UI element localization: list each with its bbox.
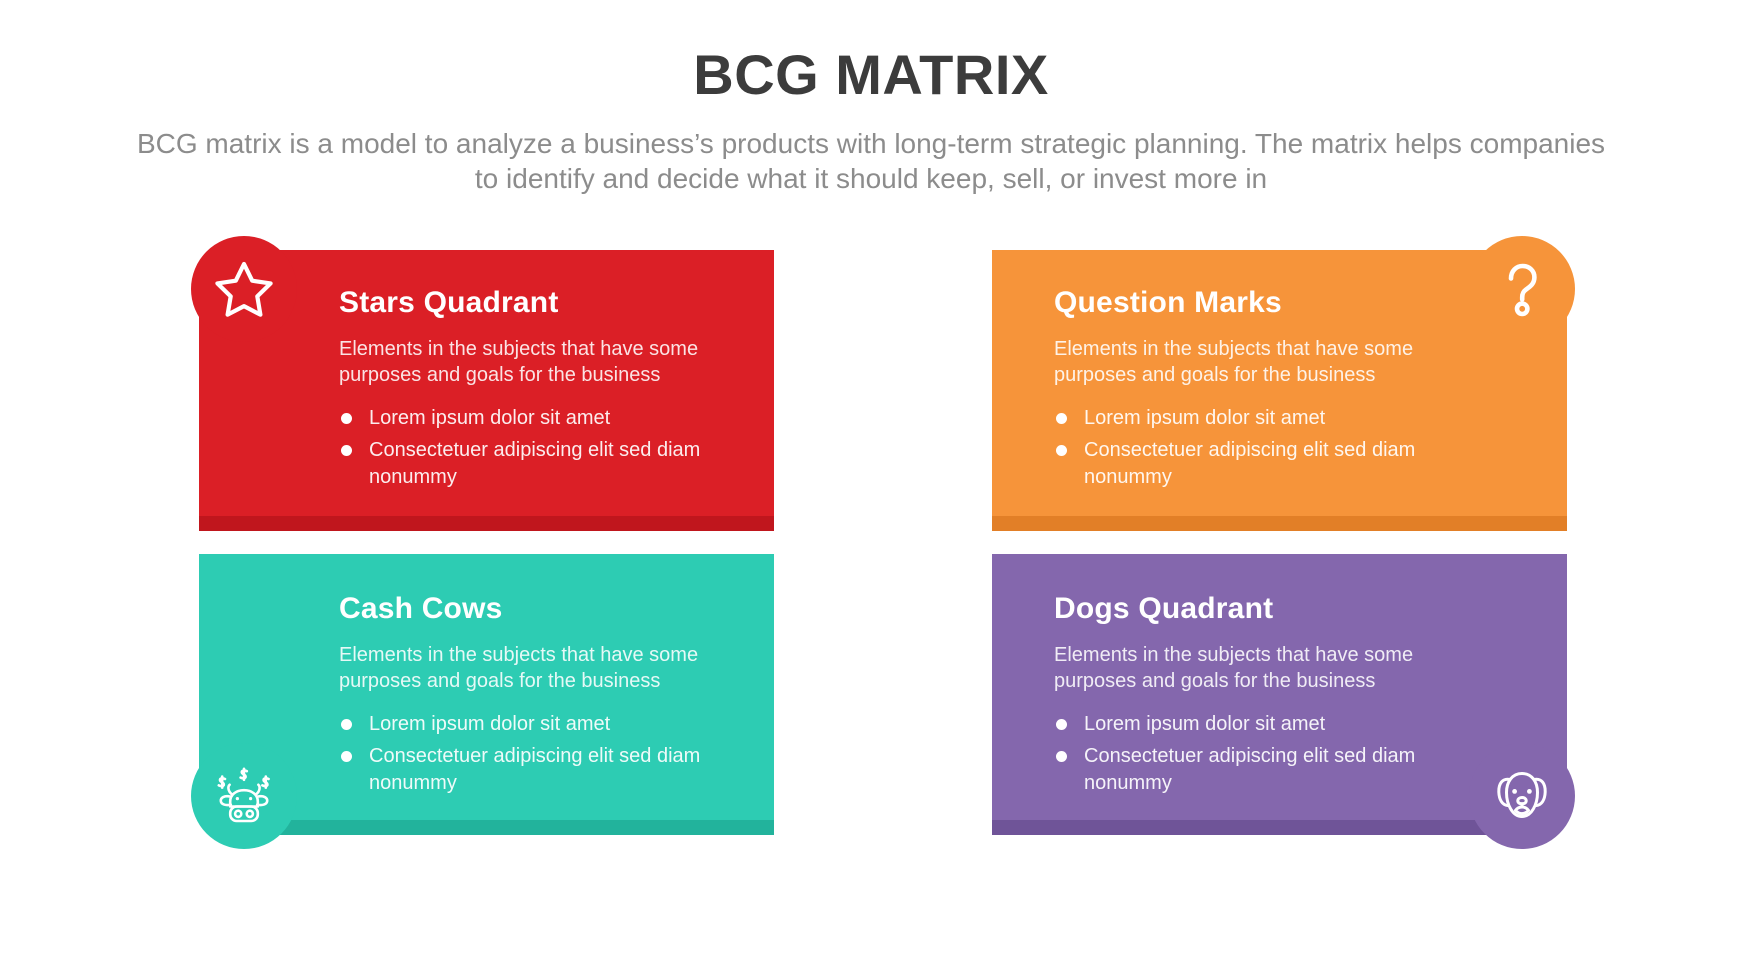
header: BCG MATRIX BCG matrix is a model to anal…	[0, 44, 1742, 197]
list-item: Lorem ipsum dolor sit amet	[1054, 711, 1447, 737]
card-content-cash: Cash Cows Elements in the subjects that …	[199, 554, 774, 796]
list-item-label: Consectetuer adipiscing elit sed diam no…	[1084, 439, 1415, 487]
quadrant-card-cash-cows[interactable]: Cash Cows Elements in the subjects that …	[199, 554, 774, 835]
page-title: BCG MATRIX	[0, 44, 1742, 106]
quadrant-description-cash-cows: Elements in the subjects that have some …	[339, 642, 739, 695]
card-content-dogs: Dogs Quadrant Elements in the subjects t…	[992, 554, 1567, 796]
list-item: Lorem ipsum dolor sit amet	[1054, 405, 1454, 431]
quadrant-title-cash-cows: Cash Cows	[339, 592, 740, 626]
list-item: Consectetuer adipiscing elit sed diam no…	[339, 437, 739, 490]
quadrant-bullet-list-cash-cows: Lorem ipsum dolor sit amet Consectetuer …	[339, 711, 740, 796]
quadrant-description-dogs: Elements in the subjects that have some …	[1054, 642, 1447, 695]
quadrant-description-question-marks: Elements in the subjects that have some …	[1054, 336, 1454, 389]
list-item: Consectetuer adipiscing elit sed diam no…	[339, 743, 739, 796]
star-icon	[191, 236, 297, 342]
list-item: Lorem ipsum dolor sit amet	[339, 711, 739, 737]
quadrant-card-dogs[interactable]: Dogs Quadrant Elements in the subjects t…	[992, 554, 1567, 835]
list-item-label: Lorem ipsum dolor sit amet	[369, 713, 610, 735]
matrix-grid: Stars Quadrant Elements in the subjects …	[199, 250, 1567, 835]
quadrant-bullet-list-dogs: Lorem ipsum dolor sit amet Consectetuer …	[1054, 711, 1447, 796]
list-item: Consectetuer adipiscing elit sed diam no…	[1054, 743, 1447, 796]
list-item: Lorem ipsum dolor sit amet	[339, 405, 739, 431]
bullet-dot-icon	[1056, 413, 1067, 424]
bullet-dot-icon	[341, 413, 352, 424]
list-item-label: Consectetuer adipiscing elit sed diam no…	[369, 745, 700, 793]
list-item-label: Lorem ipsum dolor sit amet	[1084, 407, 1325, 429]
list-item-label: Consectetuer adipiscing elit sed diam no…	[1084, 745, 1415, 793]
quadrant-title-question-marks: Question Marks	[1054, 286, 1527, 320]
question-mark-icon	[1469, 236, 1575, 342]
list-item: Consectetuer adipiscing elit sed diam no…	[1054, 437, 1454, 490]
list-item-label: Lorem ipsum dolor sit amet	[369, 407, 610, 429]
quadrant-card-question-marks[interactable]: Question Marks Elements in the subjects …	[992, 250, 1567, 531]
bullet-dot-icon	[1056, 719, 1067, 730]
cow-icon	[191, 743, 297, 849]
quadrant-card-stars[interactable]: Stars Quadrant Elements in the subjects …	[199, 250, 774, 531]
bullet-dot-icon	[1056, 445, 1067, 456]
list-item-label: Consectetuer adipiscing elit sed diam no…	[369, 439, 700, 487]
page-subtitle: BCG matrix is a model to analyze a busin…	[131, 126, 1611, 198]
bullet-dot-icon	[341, 719, 352, 730]
bullet-dot-icon	[341, 751, 352, 762]
dog-icon	[1469, 743, 1575, 849]
quadrant-title-stars: Stars Quadrant	[339, 286, 740, 320]
quadrant-bullet-list-question-marks: Lorem ipsum dolor sit amet Consectetuer …	[1054, 405, 1527, 490]
list-item-label: Lorem ipsum dolor sit amet	[1084, 713, 1325, 735]
quadrant-title-dogs: Dogs Quadrant	[1054, 592, 1447, 626]
bullet-dot-icon	[1056, 751, 1067, 762]
bcg-matrix-infographic: BCG MATRIX BCG matrix is a model to anal…	[0, 0, 1742, 980]
quadrant-description-stars: Elements in the subjects that have some …	[339, 336, 739, 389]
bullet-dot-icon	[341, 445, 352, 456]
quadrant-bullet-list-stars: Lorem ipsum dolor sit amet Consectetuer …	[339, 405, 740, 490]
